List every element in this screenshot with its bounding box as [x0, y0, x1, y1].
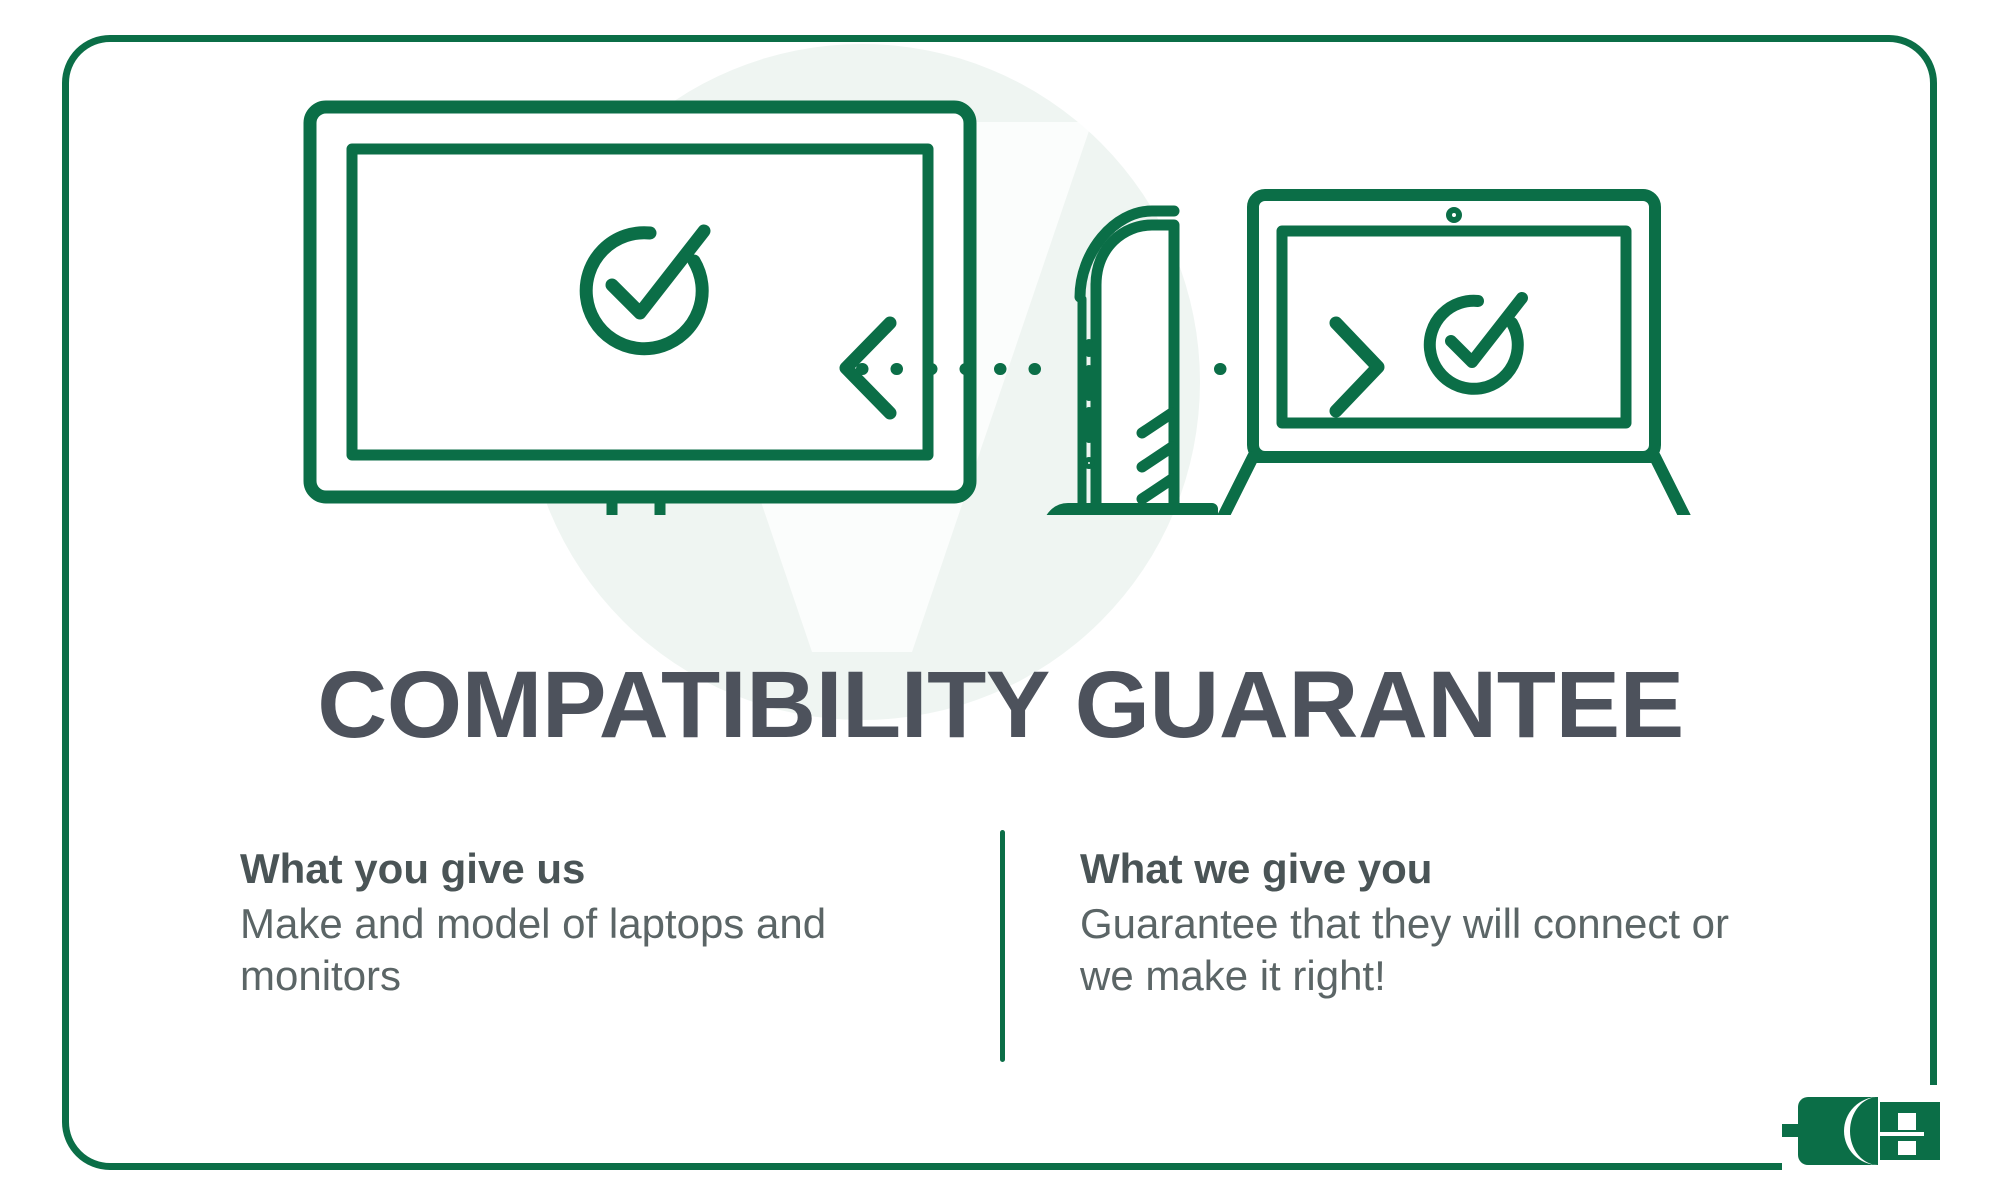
hero-illustration — [290, 85, 1740, 515]
compatibility-guarantee-card: COMPATIBILITY GUARANTEE What you give us… — [0, 0, 2001, 1201]
column-what-we-give-you: What we give you Guarantee that they wil… — [1080, 845, 1740, 1002]
column-heading: What you give us — [240, 845, 900, 892]
column-heading: What we give you — [1080, 845, 1740, 892]
columns-container: What you give us Make and model of lapto… — [240, 845, 1740, 1075]
laptop — [1210, 195, 1698, 515]
column-body: Guarantee that they will connect or we m… — [1080, 898, 1740, 1002]
usb-connector-logo — [1782, 1097, 1940, 1165]
docking-station — [1049, 211, 1212, 515]
column-body: Make and model of laptops and monitors — [240, 898, 900, 1002]
column-what-you-give-us: What you give us Make and model of lapto… — [240, 845, 900, 1002]
page-title: COMPATIBILITY GUARANTEE — [0, 658, 2001, 753]
desktop-monitor — [310, 107, 970, 515]
